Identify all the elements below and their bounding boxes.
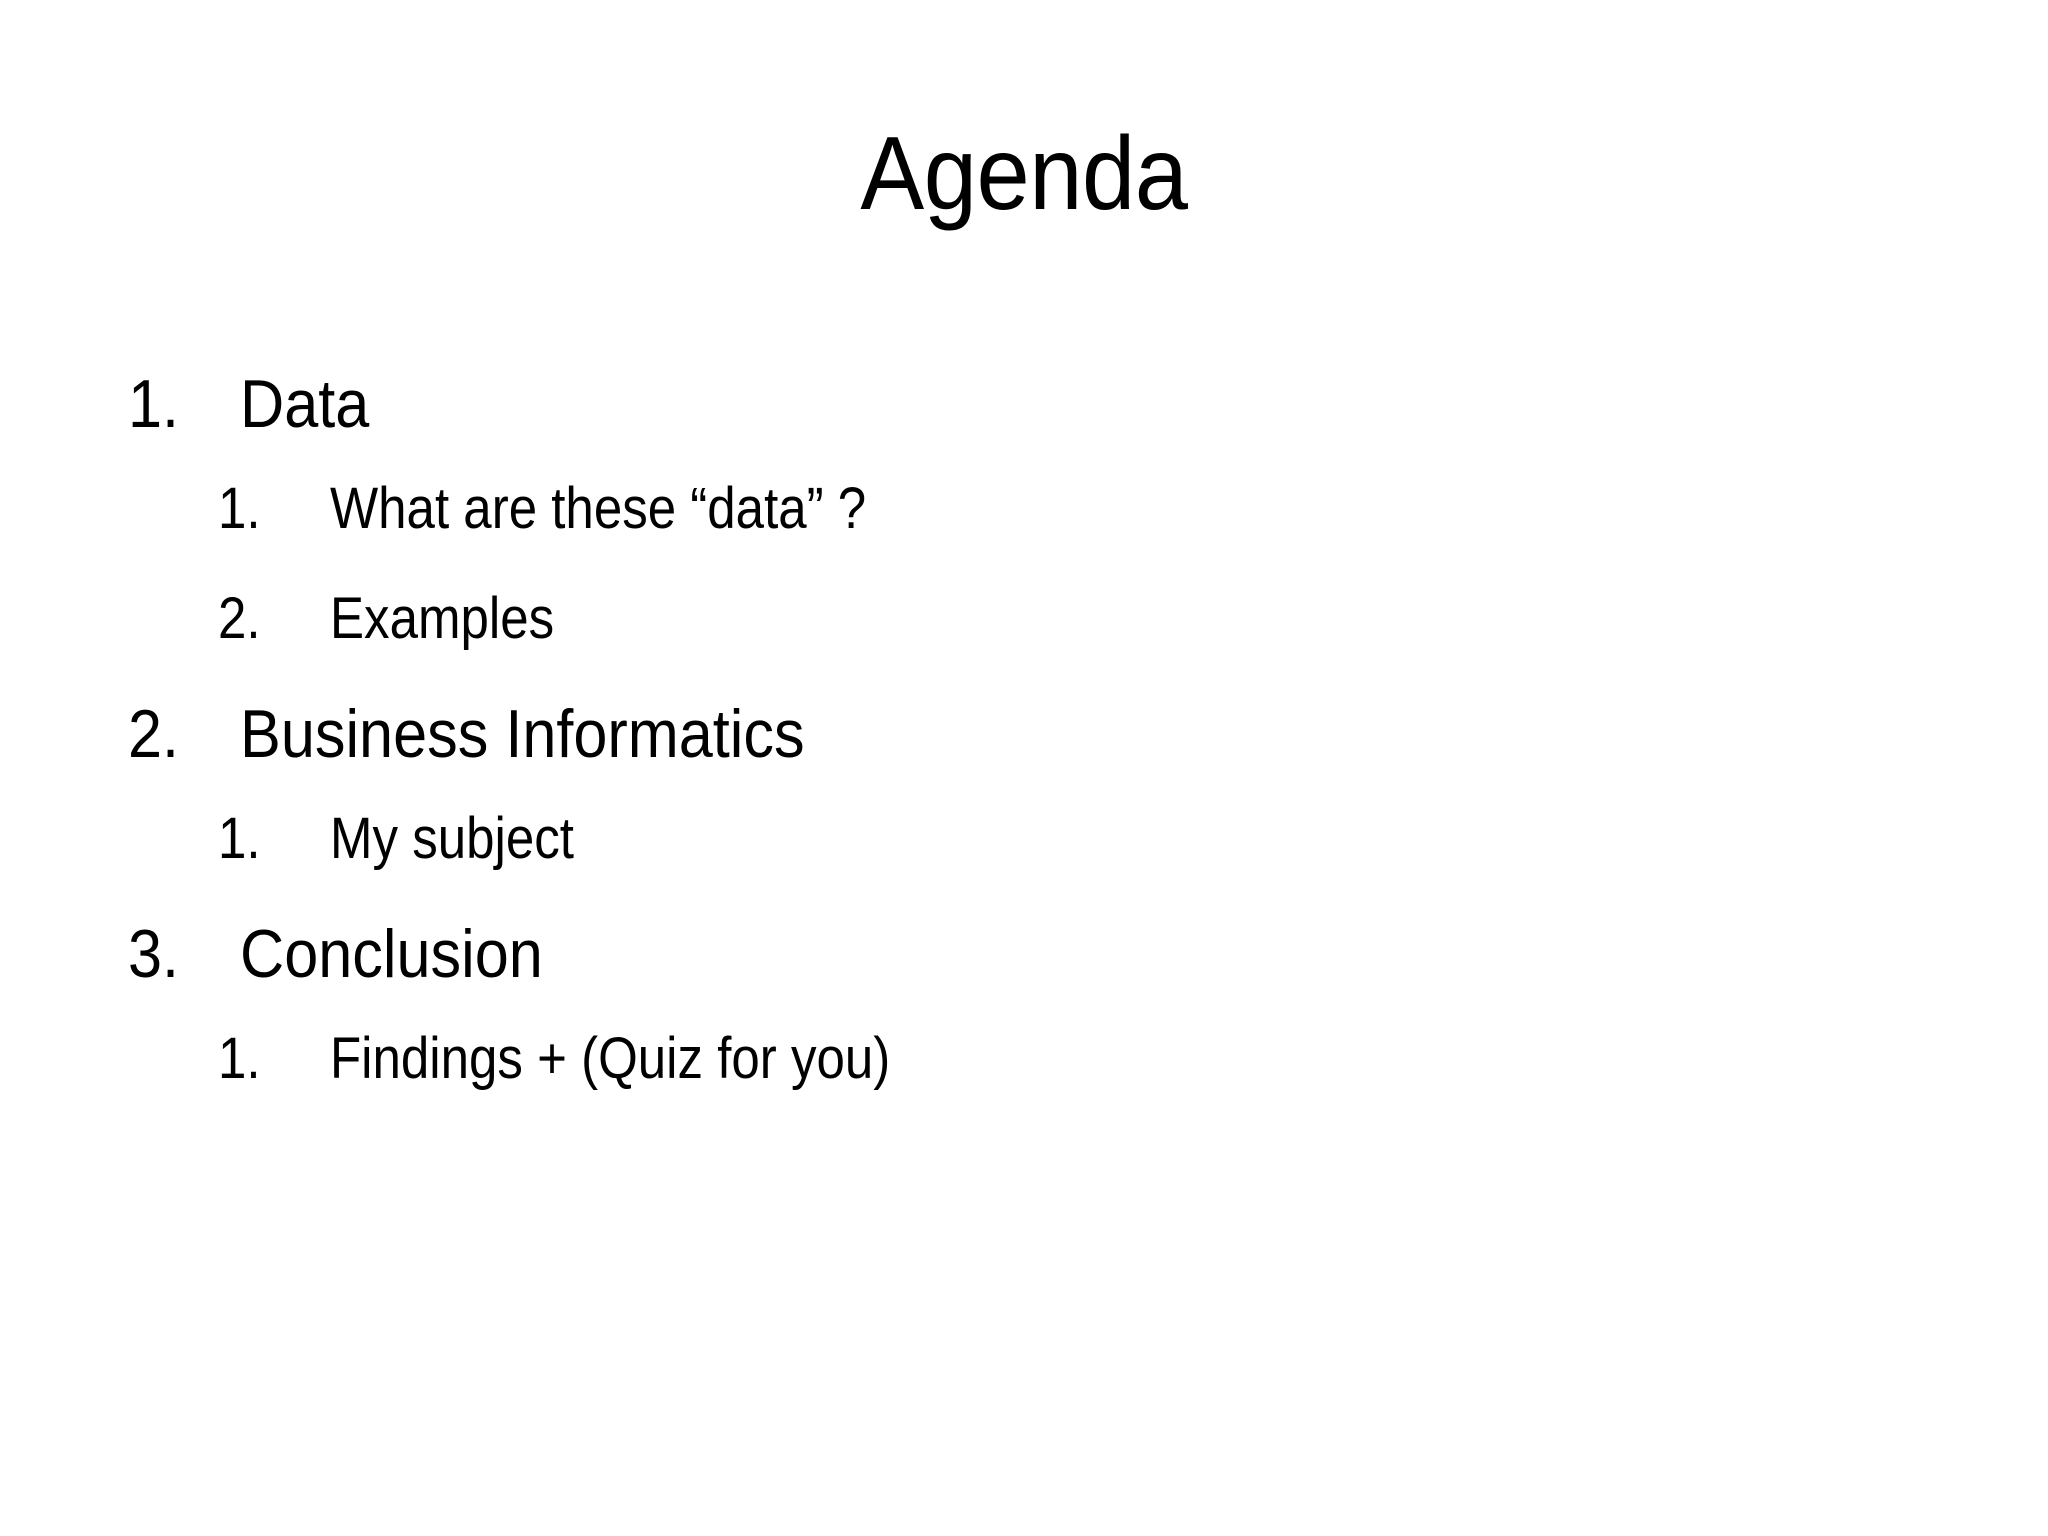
agenda-section: 2. Business Informatics 1. My subject	[0, 700, 2048, 868]
list-item-label: Conclusion	[240, 920, 543, 988]
agenda-section: 1. Data 1. What are these “data” ? 2. Ex…	[0, 370, 2048, 648]
list-item[interactable]: 1. Findings + (Quiz for you)	[0, 1030, 2048, 1088]
agenda-sublist: 1. My subject	[0, 810, 2048, 868]
list-item[interactable]: 1. What are these “data” ?	[0, 480, 2048, 538]
agenda-outline-list: 1. Data 1. What are these “data” ? 2. Ex…	[0, 370, 2048, 1140]
list-item-number: 2.	[218, 590, 317, 648]
page-title: Agenda	[82, 120, 1966, 229]
list-item[interactable]: 2. Examples	[0, 590, 2048, 648]
list-item[interactable]: 3. Conclusion	[0, 920, 2048, 988]
agenda-sublist: 1. Findings + (Quiz for you)	[0, 1030, 2048, 1088]
list-item-label: Examples	[330, 590, 554, 648]
list-item-number: 1.	[128, 370, 229, 438]
list-item-number: 1.	[218, 480, 317, 538]
list-item[interactable]: 2. Business Informatics	[0, 700, 2048, 768]
list-item[interactable]: 1. My subject	[0, 810, 2048, 868]
list-item-label: My subject	[330, 810, 574, 868]
presentation-slide: Agenda 1. Data 1. What are these “data” …	[0, 0, 2048, 1536]
list-item[interactable]: 1. Data	[0, 370, 2048, 438]
list-item-number: 3.	[128, 920, 229, 988]
agenda-sublist: 1. What are these “data” ? 2. Examples	[0, 480, 2048, 648]
list-item-number: 1.	[218, 810, 317, 868]
list-item-label: What are these “data” ?	[330, 480, 866, 538]
list-item-number: 1.	[218, 1030, 317, 1088]
list-item-label: Data	[240, 370, 369, 438]
list-item-number: 2.	[128, 700, 229, 768]
list-item-label: Business Informatics	[240, 700, 805, 768]
list-item-label: Findings + (Quiz for you)	[330, 1030, 890, 1088]
agenda-section: 3. Conclusion 1. Findings + (Quiz for yo…	[0, 920, 2048, 1088]
